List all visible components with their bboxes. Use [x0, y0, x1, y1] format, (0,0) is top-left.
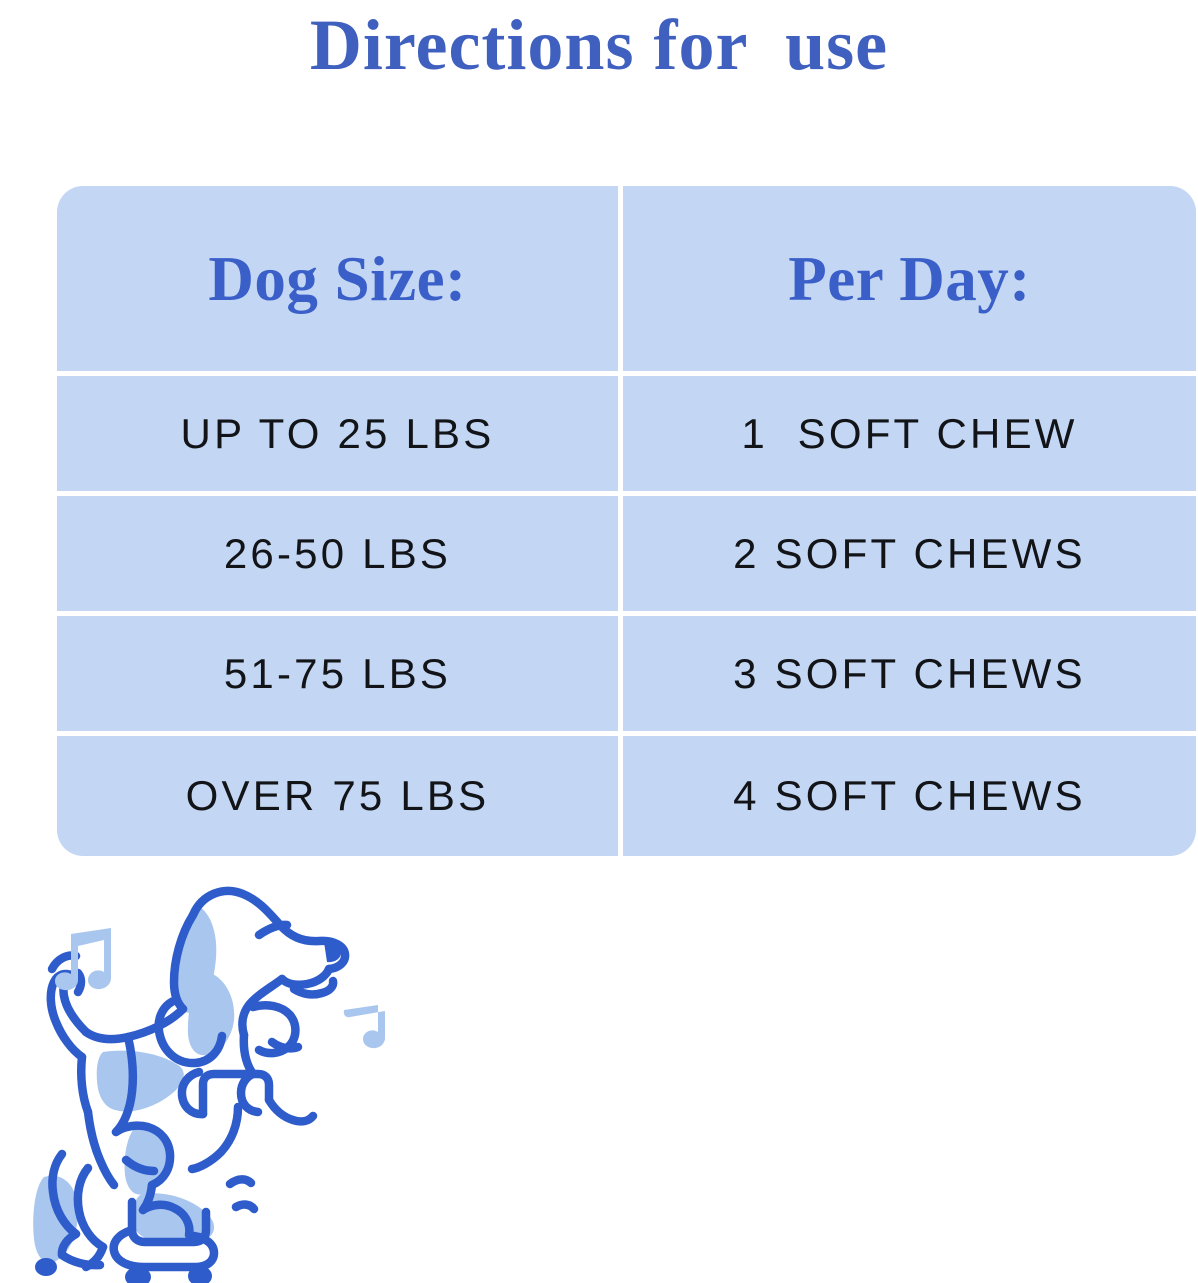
cell-dog-size: 51-75 LBS [224, 650, 451, 698]
table-row: OVER 75 LBS [57, 736, 623, 856]
table-row: 3 SOFT CHEWS [623, 616, 1196, 736]
table-header-per-day-label: Per Day: [788, 245, 1031, 313]
table-row: UP TO 25 LBS [57, 376, 623, 496]
cell-dog-size: 26-50 LBS [224, 530, 451, 578]
table-header-dog-size-label: Dog Size: [208, 245, 466, 313]
dog-illustration-group [24, 872, 385, 1283]
cell-per-day: 1 SOFT CHEW [741, 410, 1077, 458]
table-row: 26-50 LBS [57, 496, 623, 616]
dog-on-roller-skates-illustration [24, 872, 420, 1283]
music-note-right-icon [344, 1005, 385, 1048]
cell-per-day: 2 SOFT CHEWS [733, 530, 1086, 578]
dosage-table: Dog Size: Per Day: UP TO 25 LBS 1 SOFT C… [57, 186, 1196, 856]
table-row: 4 SOFT CHEWS [623, 736, 1196, 856]
cell-per-day: 4 SOFT CHEWS [733, 772, 1086, 820]
cell-per-day: 3 SOFT CHEWS [733, 650, 1086, 698]
page-title: Directions for use [0, 4, 1198, 86]
table-row: 1 SOFT CHEW [623, 376, 1196, 496]
table-header-per-day: Per Day: [623, 186, 1196, 376]
cell-dog-size: OVER 75 LBS [186, 772, 490, 820]
cell-dog-size: UP TO 25 LBS [181, 410, 495, 458]
table-header-dog-size: Dog Size: [57, 186, 623, 376]
page-root: Directions for use Dog Size: Per Day: UP… [0, 0, 1198, 1283]
table-row: 51-75 LBS [57, 616, 623, 736]
table-row: 2 SOFT CHEWS [623, 496, 1196, 616]
